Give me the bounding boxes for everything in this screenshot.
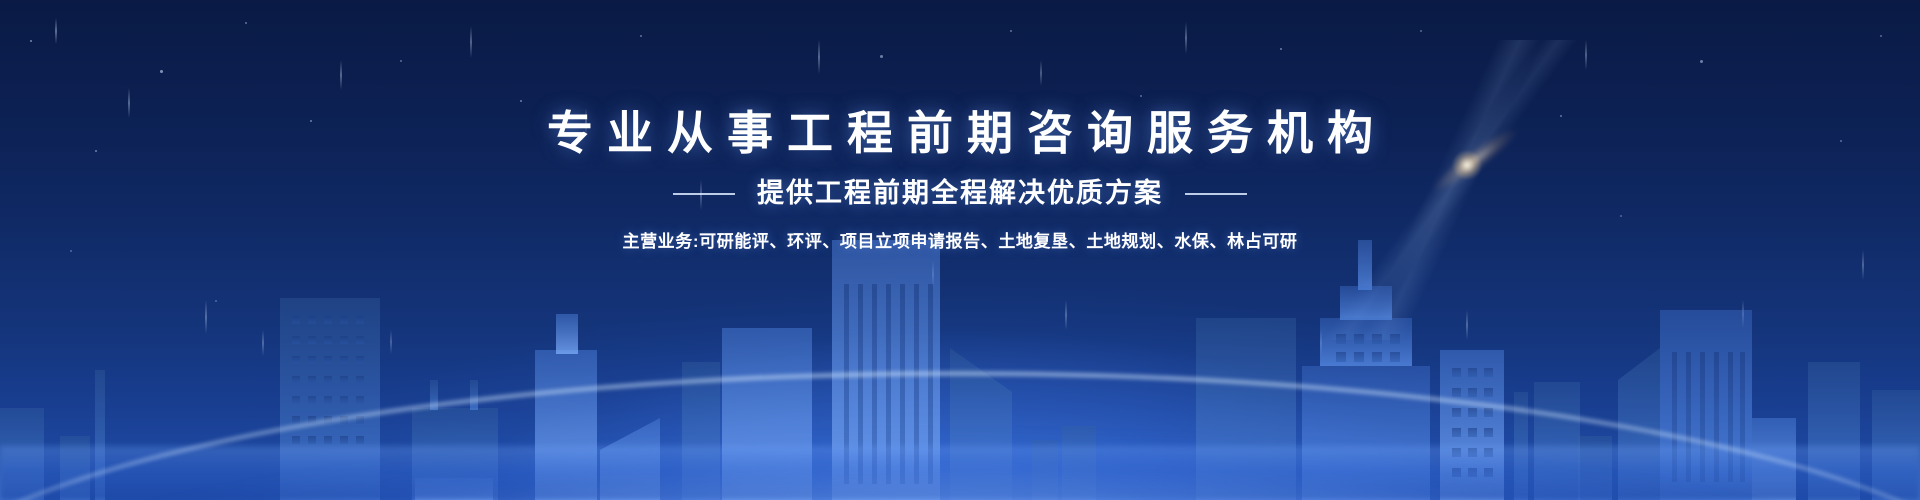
dash-right-icon [1185, 193, 1247, 195]
dash-left-icon [673, 193, 735, 195]
hero-headline: 专业从事工程前期咨询服务机构 [533, 110, 1387, 156]
hero-subtitle: 提供工程前期全程解决优质方案 [757, 180, 1163, 207]
hero-subtitle-row: 提供工程前期全程解决优质方案 [673, 180, 1247, 207]
hero-banner: 专业从事工程前期咨询服务机构 提供工程前期全程解决优质方案 主营业务:可研能评、… [0, 0, 1920, 500]
hero-services-line: 主营业务:可研能评、环评、项目立项申请报告、土地复垦、土地规划、水保、林占可研 [622, 233, 1297, 250]
hero-copy: 专业从事工程前期咨询服务机构 提供工程前期全程解决优质方案 主营业务:可研能评、… [0, 0, 1920, 500]
